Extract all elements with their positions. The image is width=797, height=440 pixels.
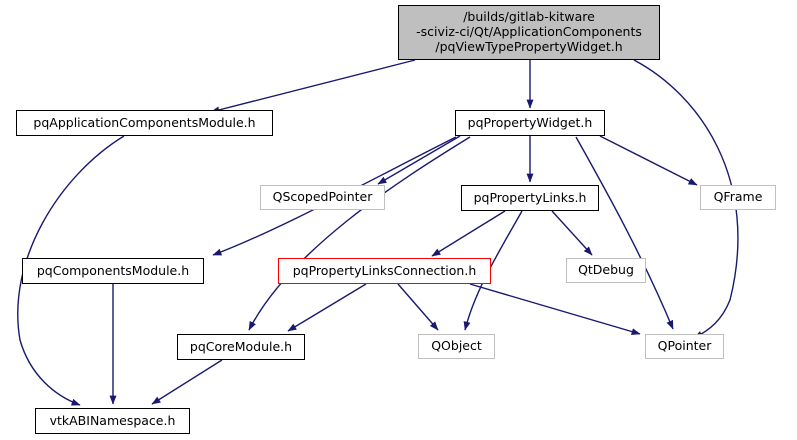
graph-node-label: pqApplicationComponentsModule.h bbox=[33, 116, 255, 131]
graph-node-label: vtkABINamespace.h bbox=[50, 414, 176, 429]
graph-node-label: QObject bbox=[431, 339, 482, 354]
graph-node-QtDebug[interactable]: QtDebug bbox=[566, 258, 646, 283]
graph-node-label: pqCoreModule.h bbox=[190, 340, 292, 355]
graph-node-QObject[interactable]: QObject bbox=[418, 334, 495, 359]
graph-node-QFrame[interactable]: QFrame bbox=[700, 185, 776, 210]
graph-edge-pqPropertyLinksConnection-to-pqCoreModule bbox=[288, 284, 366, 331]
graph-node-vtkABINamespace[interactable]: vtkABINamespace.h bbox=[35, 408, 190, 434]
graph-node-label: pqPropertyLinksConnection.h bbox=[293, 264, 477, 279]
graph-edge-pqCoreModule-to-vtkABINamespace bbox=[152, 360, 222, 404]
graph-edge-pqPropertyLinksConnection-to-QObject bbox=[398, 284, 438, 330]
graph-node-label: QScopedPointer bbox=[273, 190, 373, 205]
graph-node-QScopedPointer[interactable]: QScopedPointer bbox=[260, 185, 385, 210]
graph-node-pqApplicationComponentsModule[interactable]: pqApplicationComponentsModule.h bbox=[16, 110, 273, 136]
graph-node-label: QtDebug bbox=[578, 263, 634, 278]
graph-node-pqCoreModule[interactable]: pqCoreModule.h bbox=[177, 334, 305, 360]
graph-node-label: QFrame bbox=[714, 190, 763, 205]
graph-node-QPointer[interactable]: QPointer bbox=[645, 334, 724, 359]
graph-node-label: pqPropertyWidget.h bbox=[468, 116, 593, 131]
graph-node-root[interactable]: /builds/gitlab-kitware -sciviz-ci/Qt/App… bbox=[398, 5, 660, 60]
graph-edge-pqPropertyWidget-to-QPointer bbox=[576, 137, 673, 329]
graph-node-label: QPointer bbox=[658, 339, 712, 354]
graph-edge-pqPropertyWidget-to-QScopedPointer bbox=[378, 136, 460, 184]
graph-edge-pqPropertyWidget-to-QFrame bbox=[600, 136, 697, 185]
graph-edge-pqPropertyWidget-to-pqCoreModule bbox=[249, 137, 470, 330]
edge-layer bbox=[0, 0, 797, 440]
graph-edge-pqPropertyLinks-to-pqPropertyLinksConnection bbox=[432, 211, 505, 256]
graph-node-pqPropertyLinksConnection[interactable]: pqPropertyLinksConnection.h bbox=[278, 258, 491, 284]
graph-node-pqPropertyLinks[interactable]: pqPropertyLinks.h bbox=[461, 185, 599, 211]
graph-node-pqComponentsModule[interactable]: pqComponentsModule.h bbox=[22, 258, 204, 284]
graph-node-label: pqPropertyLinks.h bbox=[474, 191, 587, 206]
graph-node-pqPropertyWidget[interactable]: pqPropertyWidget.h bbox=[455, 110, 605, 136]
graph-node-label: pqComponentsModule.h bbox=[37, 264, 189, 279]
graph-node-label: /builds/gitlab-kitware -sciviz-ci/Qt/App… bbox=[416, 10, 642, 54]
graph-edge-root-to-pqApplicationComponentsModule bbox=[211, 60, 415, 112]
graph-edge-pqPropertyLinks-to-QtDebug bbox=[552, 211, 592, 255]
include-dependency-graph: /builds/gitlab-kitware -sciviz-ci/Qt/App… bbox=[0, 0, 797, 440]
graph-edge-pqPropertyLinksConnection-to-QPointer bbox=[470, 284, 640, 334]
